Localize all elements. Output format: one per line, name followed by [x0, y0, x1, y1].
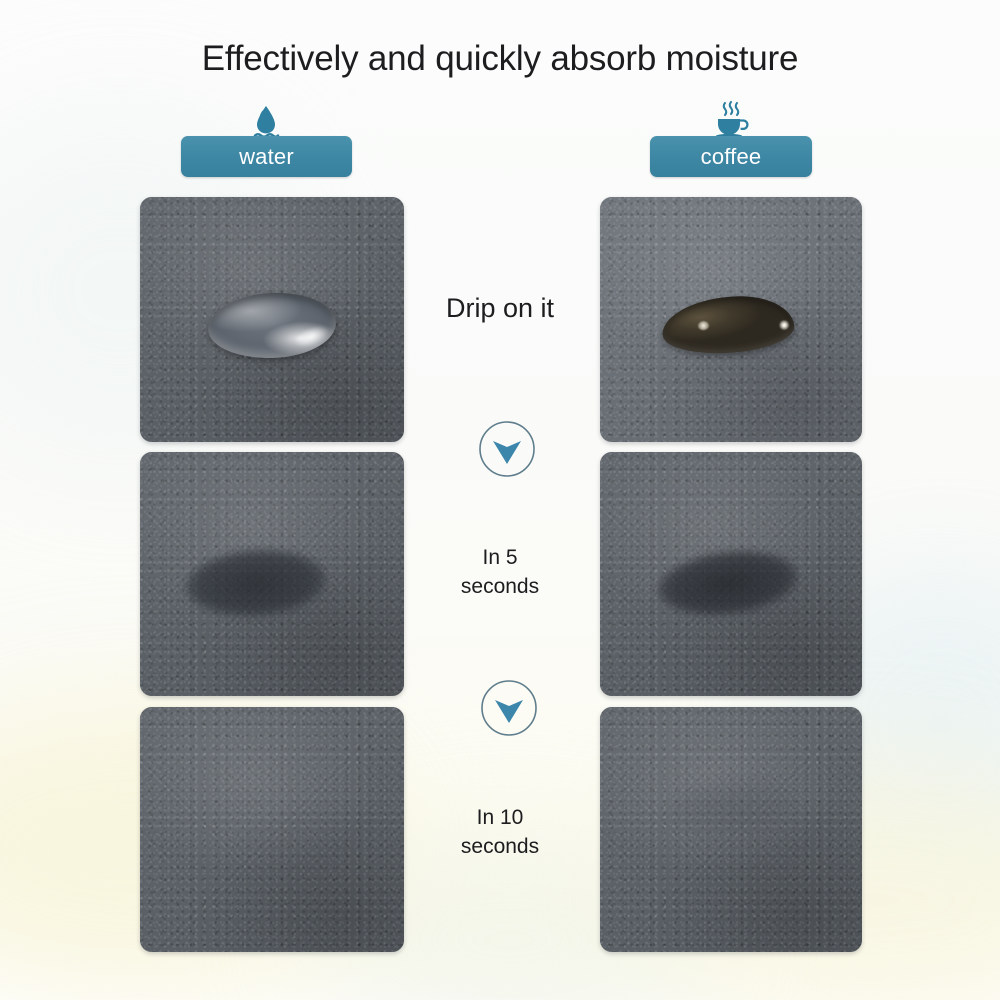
mat-water-stage-3: [140, 707, 404, 952]
mat-water-stage-1: [140, 197, 404, 442]
step-3-caption: In 10 seconds: [420, 803, 580, 861]
mat-coffee-stage-3: [600, 707, 862, 952]
step-2-caption-line2: seconds: [420, 572, 580, 601]
chevron-down-circle-icon-2: [480, 679, 538, 737]
label-chip-water-text: water: [239, 146, 294, 168]
step-2-caption: In 5 seconds: [420, 543, 580, 601]
step-3-caption-line1: In 10: [420, 803, 580, 832]
page-title: Effectively and quickly absorb moisture: [0, 36, 1000, 81]
mat-water-stage-2: [140, 452, 404, 696]
product-infographic: Effectively and quickly absorb moisture …: [0, 0, 1000, 1000]
step-1-caption: Drip on it: [400, 291, 600, 325]
mat-coffee-stage-2: [600, 452, 862, 696]
mat-coffee-stage-1: [600, 197, 862, 442]
chevron-down-circle-icon: [478, 420, 536, 478]
step-3-caption-line2: seconds: [420, 832, 580, 861]
coffee-cup-icon: [709, 100, 753, 140]
step-2-caption-line1: In 5: [420, 543, 580, 572]
label-chip-coffee-text: coffee: [701, 146, 762, 168]
label-chip-water[interactable]: water: [181, 136, 352, 177]
mat-sheen: [140, 707, 404, 952]
label-chip-coffee[interactable]: coffee: [650, 136, 812, 177]
